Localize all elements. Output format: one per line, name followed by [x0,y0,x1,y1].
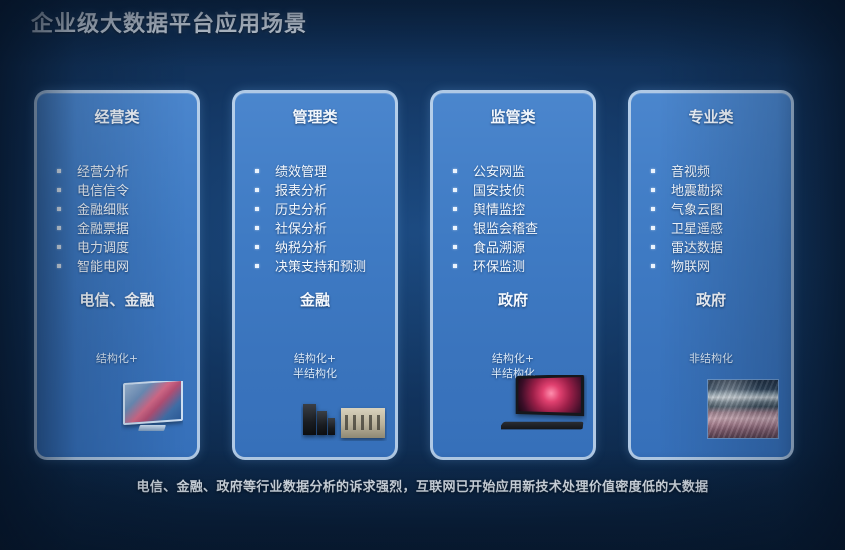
list-item: 音视频 [651,161,791,180]
list-item-label: 电力调度 [77,237,129,256]
satellite-image-icon [708,380,778,438]
list-item: 公安网监 [453,161,593,180]
list-item: 金融细账 [57,199,197,218]
list-item-label: 气象云图 [671,199,723,218]
satellite-imagery-photo [707,379,779,439]
bullet-dot-icon [453,245,457,249]
list-item-label: 经营分析 [77,161,129,180]
slide-canvas: 企业级大数据平台应用场景 经营类 经营分析 电信信令 金融细账 [0,0,845,550]
list-item: 电力调度 [57,237,197,256]
bullet-dot-icon [255,226,259,230]
bullet-dot-icon [651,169,655,173]
bullet-dot-icon [651,245,655,249]
bullet-dot-icon [255,188,259,192]
scenario-card-row: 经营类 经营分析 电信信令 金融细账 金融票据 [34,90,794,460]
list-item: 社保分析 [255,218,395,237]
bullet-dot-icon [57,264,61,268]
card-bullet-list: 经营分析 电信信令 金融细账 金融票据 电力调度 [37,161,197,275]
bullet-dot-icon [651,264,655,268]
laptop-keyboard-icon [501,422,583,430]
laptop-photo [501,375,587,437]
list-item-label: 公安网监 [473,161,525,180]
server-rack-icon [303,404,316,435]
bullet-dot-icon [255,207,259,211]
card-structure-label: 结构化+半结构化 [235,351,395,381]
list-item-label: 决策支持和预测 [275,256,366,275]
slide-caption: 电信、金融、政府等行业数据分析的诉求强烈，互联网已开始应用新技术处理价值密度低的… [0,476,845,495]
page-title: 企业级大数据平台应用场景 [31,6,307,38]
monitor-photo [121,381,183,433]
list-item: 智能电网 [57,256,197,275]
bullet-dot-icon [651,207,655,211]
list-item-label: 舆情监控 [473,199,525,218]
bullet-dot-icon [57,226,61,230]
card-sector-label: 政府 [433,289,593,310]
scenario-card-regulatory[interactable]: 监管类 公安网监 国安技侦 舆情监控 银监会稽查 [430,90,596,460]
list-item: 银监会稽查 [453,218,593,237]
list-item: 金融票据 [57,218,197,237]
scenario-card-operations[interactable]: 经营类 经营分析 电信信令 金融细账 金融票据 [34,90,200,460]
bullet-dot-icon [651,188,655,192]
list-item-label: 音视频 [671,161,710,180]
list-item-label: 物联网 [671,256,710,275]
list-item: 卫星遥感 [651,218,791,237]
scenario-card-management[interactable]: 管理类 绩效管理 报表分析 历史分析 社保分析 [232,90,398,460]
monitor-screen-icon [123,381,183,425]
card-structure-label: 非结构化 [631,351,791,366]
bullet-dot-icon [453,226,457,230]
list-item-label: 地震勘探 [671,180,723,199]
list-item: 地震勘探 [651,180,791,199]
list-item: 物联网 [651,256,791,275]
list-item-label: 报表分析 [275,180,327,199]
list-item-label: 卫星遥感 [671,218,723,237]
laptop-lid-icon [516,375,584,416]
list-item-label: 纳税分析 [275,237,327,256]
server-rack-icon [317,411,327,435]
list-item-label: 绩效管理 [275,161,327,180]
server-racks-photo [301,395,387,441]
card-title: 经营类 [37,106,197,127]
card-bullet-list: 绩效管理 报表分析 历史分析 社保分析 纳税分析 [235,161,395,275]
list-item: 经营分析 [57,161,197,180]
monitor-base-icon [138,425,166,431]
list-item: 报表分析 [255,180,395,199]
list-item-label: 社保分析 [275,218,327,237]
card-bullet-list: 公安网监 国安技侦 舆情监控 银监会稽查 食品溯源 [433,161,593,275]
building-icon [341,408,385,438]
list-item: 决策支持和预测 [255,256,395,275]
list-item: 气象云图 [651,199,791,218]
list-item: 雷达数据 [651,237,791,256]
bullet-dot-icon [57,188,61,192]
list-item: 历史分析 [255,199,395,218]
bullet-dot-icon [255,264,259,268]
laptop-screen-icon [518,377,581,413]
card-structure-label: 结构化+ [37,351,197,366]
list-item-label: 电信信令 [77,180,129,199]
list-item-label: 雷达数据 [671,237,723,256]
list-item: 环保监测 [453,256,593,275]
bullet-dot-icon [255,169,259,173]
card-bullet-list: 音视频 地震勘探 气象云图 卫星遥感 雷达数据 [631,161,791,275]
server-rack-icon [328,418,335,435]
list-item: 国安技侦 [453,180,593,199]
card-sector-label: 电信、金融 [37,289,197,310]
card-title: 监管类 [433,106,593,127]
bullet-dot-icon [453,264,457,268]
bullet-dot-icon [651,226,655,230]
bullet-dot-icon [453,169,457,173]
list-item: 绩效管理 [255,161,395,180]
list-item-label: 银监会稽查 [473,218,538,237]
list-item: 舆情监控 [453,199,593,218]
list-item-label: 智能电网 [77,256,129,275]
list-item-label: 国安技侦 [473,180,525,199]
bullet-dot-icon [453,188,457,192]
list-item-label: 食品溯源 [473,237,525,256]
scenario-card-specialized[interactable]: 专业类 音视频 地震勘探 气象云图 卫星遥感 [628,90,794,460]
list-item-label: 金融票据 [77,218,129,237]
bullet-dot-icon [57,169,61,173]
bullet-dot-icon [57,207,61,211]
card-sector-label: 金融 [235,289,395,310]
bullet-dot-icon [453,207,457,211]
list-item: 纳税分析 [255,237,395,256]
list-item-label: 环保监测 [473,256,525,275]
list-item-label: 金融细账 [77,199,129,218]
card-sector-label: 政府 [631,289,791,310]
card-title: 管理类 [235,106,395,127]
bullet-dot-icon [57,245,61,249]
list-item: 食品溯源 [453,237,593,256]
bullet-dot-icon [255,245,259,249]
list-item-label: 历史分析 [275,199,327,218]
card-title: 专业类 [631,106,791,127]
list-item: 电信信令 [57,180,197,199]
